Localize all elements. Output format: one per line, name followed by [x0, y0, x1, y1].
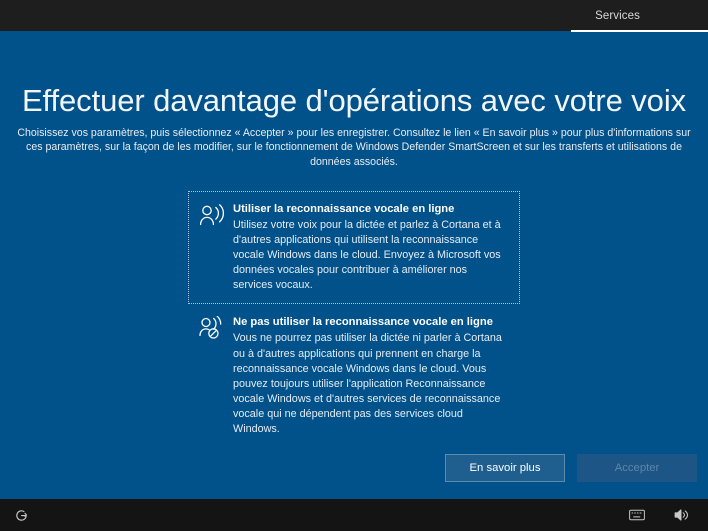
tab-services-label: Services — [595, 10, 640, 22]
option-use-online-speech-recognition[interactable]: Utiliser la reconnaissance vocale en lig… — [188, 191, 520, 304]
footer-button-bar: En savoir plus Accepter — [0, 454, 708, 482]
window-header-bar: Services — [0, 0, 708, 31]
option-heading: Ne pas utiliser la reconnaissance vocale… — [233, 315, 509, 330]
taskbar-left-group — [0, 506, 30, 524]
speech-recognition-offline-icon — [197, 316, 227, 344]
option-text-block: Utiliser la reconnaissance vocale en lig… — [233, 202, 509, 293]
oobe-taskbar — [0, 499, 708, 531]
oobe-screen: Services Effectuer davantage d'opération… — [0, 0, 708, 531]
keyboard-icon[interactable] — [628, 506, 646, 524]
accept-button[interactable]: Accepter — [577, 454, 697, 482]
option-do-not-use-online-speech-recognition[interactable]: Ne pas utiliser la reconnaissance vocale… — [188, 304, 520, 448]
tab-active-underline — [571, 30, 708, 32]
options-group: Utiliser la reconnaissance vocale en lig… — [188, 191, 520, 448]
ease-of-access-icon[interactable] — [12, 506, 30, 524]
option-heading: Utiliser la reconnaissance vocale en lig… — [233, 202, 509, 217]
taskbar-right-group — [628, 506, 708, 524]
speech-recognition-online-icon — [197, 203, 227, 231]
option-text-block: Ne pas utiliser la reconnaissance vocale… — [233, 315, 509, 437]
option-description: Vous ne pourrez pas utiliser la dictée n… — [233, 331, 509, 437]
tab-services[interactable]: Services — [567, 0, 668, 31]
volume-icon[interactable] — [672, 506, 690, 524]
page-title: Effectuer davantage d'opérations avec vo… — [0, 82, 708, 120]
option-description: Utilisez votre voix pour la dictée et pa… — [233, 218, 509, 293]
page-subtitle: Choisissez vos paramètres, puis sélectio… — [16, 126, 692, 169]
learn-more-button[interactable]: En savoir plus — [445, 454, 565, 482]
